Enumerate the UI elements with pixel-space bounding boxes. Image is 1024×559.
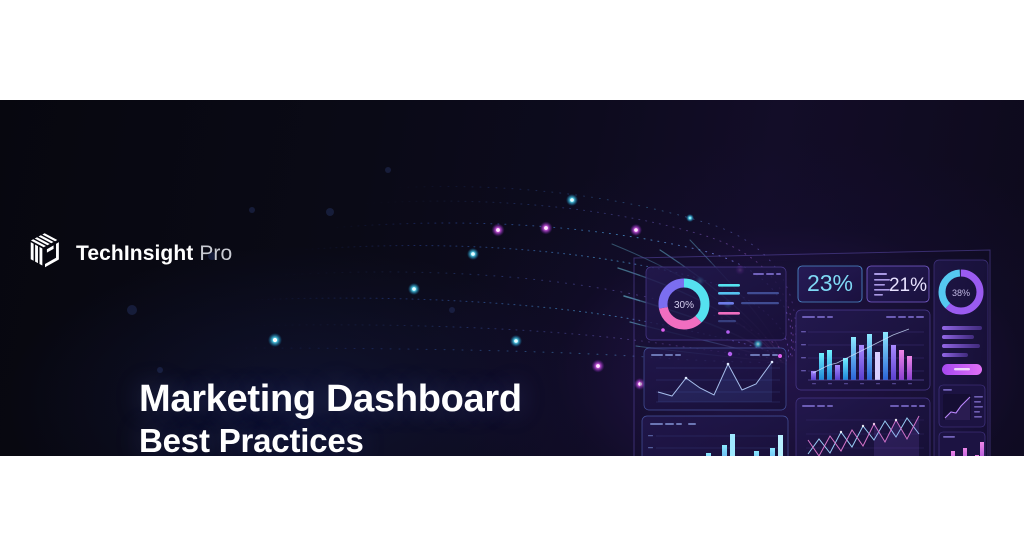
page-title-line-2: Best Practices [139,423,522,456]
panel-line-bottom-center [796,398,930,456]
panel-donut-30: 30% [646,267,786,340]
brand-logo[interactable]: TechInsight Pro [26,232,232,274]
page-root: TechInsight Pro Marketing Dashboard Best… [0,0,1024,559]
panel-kpi-23: 23% [798,266,862,302]
dashboard-illustration: 30% [612,240,1012,456]
cta-button[interactable] [942,364,982,375]
donut-38-value-label: 38% [952,288,970,298]
cube-logo-icon [26,232,64,274]
brand-name-light: Pro [199,242,232,265]
panel-mini-line [939,385,985,427]
panel-bar-bottom-left [642,416,788,456]
page-title: Marketing Dashboard Best Practices [139,379,522,456]
brand-name: TechInsight Pro [76,243,232,264]
page-title-line-1: Marketing Dashboard [139,379,522,420]
kpi-21-value: 21% [889,275,927,296]
panel-mini-bar [939,432,985,456]
panel-bar-center [796,310,930,390]
kpi-23-value-text: 23% [807,270,853,296]
panel-line-left [644,348,786,410]
hero-banner: TechInsight Pro Marketing Dashboard Best… [0,100,1024,456]
brand-name-bold: TechInsight [76,242,193,265]
panel-kpi-21: 21% [867,266,929,302]
panel-right-column: 38% [934,260,988,456]
donut-value-label: 30% [674,300,694,311]
